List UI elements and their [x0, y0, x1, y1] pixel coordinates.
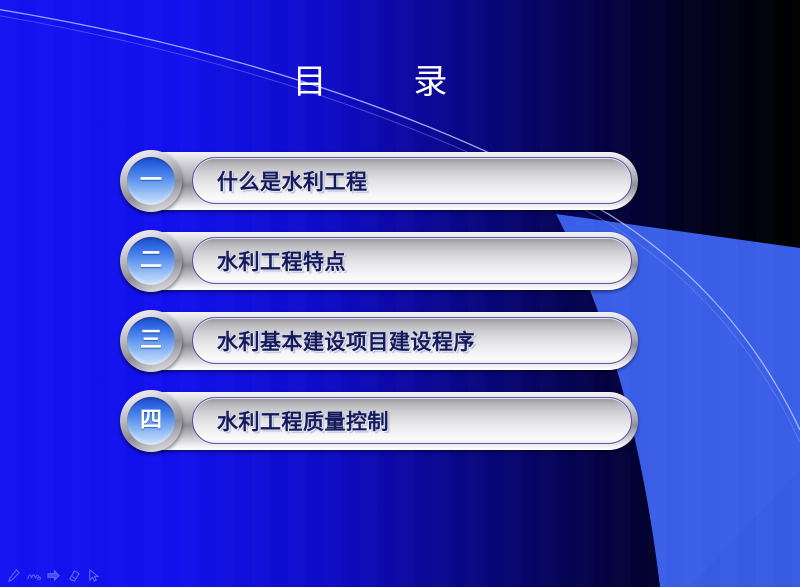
badge-inner-disc: 一 — [127, 157, 175, 205]
page-title: 目 录 — [0, 60, 740, 104]
list-item[interactable]: 水利工程特点 二 — [118, 230, 638, 292]
badge-inner-disc: 三 — [127, 317, 175, 365]
list-item[interactable]: 水利基本建设项目建设程序 三 — [118, 310, 638, 372]
presenter-toolbar[interactable] — [6, 568, 101, 583]
agenda-list: 什么是水利工程 一 水利工程特点 二 水利基本建设项目建设程序 — [118, 150, 638, 470]
item-label-bar[interactable]: 水利工程特点 — [192, 237, 632, 284]
list-item[interactable]: 水利工程质量控制 四 — [118, 390, 638, 452]
item-number-badge[interactable]: 三 — [120, 310, 182, 372]
swoosh-shade — [690, 470, 800, 587]
ink-squiggle-icon[interactable] — [26, 568, 41, 583]
list-item[interactable]: 什么是水利工程 一 — [118, 150, 638, 212]
badge-numeral: 四 — [140, 410, 162, 432]
pointer-arrow-icon[interactable] — [46, 568, 61, 583]
cursor-arrow-icon[interactable] — [86, 568, 101, 583]
item-number-badge[interactable]: 二 — [120, 230, 182, 292]
item-label: 水利基本建设项目建设程序 — [217, 326, 475, 356]
item-label: 水利工程质量控制 — [217, 406, 389, 436]
item-number-badge[interactable]: 一 — [120, 150, 182, 212]
item-label: 什么是水利工程 — [217, 166, 368, 196]
badge-inner-disc: 二 — [127, 237, 175, 285]
item-number-badge[interactable]: 四 — [120, 390, 182, 452]
item-label: 水利工程特点 — [217, 246, 346, 276]
badge-numeral: 一 — [140, 170, 162, 192]
item-label-bar[interactable]: 什么是水利工程 — [192, 157, 632, 204]
badge-inner-disc: 四 — [127, 397, 175, 445]
item-label-bar[interactable]: 水利基本建设项目建设程序 — [192, 317, 632, 364]
presentation-slide: 目 录 什么是水利工程 一 水利工程特点 二 — [0, 0, 800, 587]
badge-numeral: 三 — [140, 330, 162, 352]
badge-numeral: 二 — [140, 250, 162, 272]
eraser-icon[interactable] — [66, 568, 81, 583]
pen-icon[interactable] — [6, 568, 21, 583]
item-label-bar[interactable]: 水利工程质量控制 — [192, 397, 632, 444]
